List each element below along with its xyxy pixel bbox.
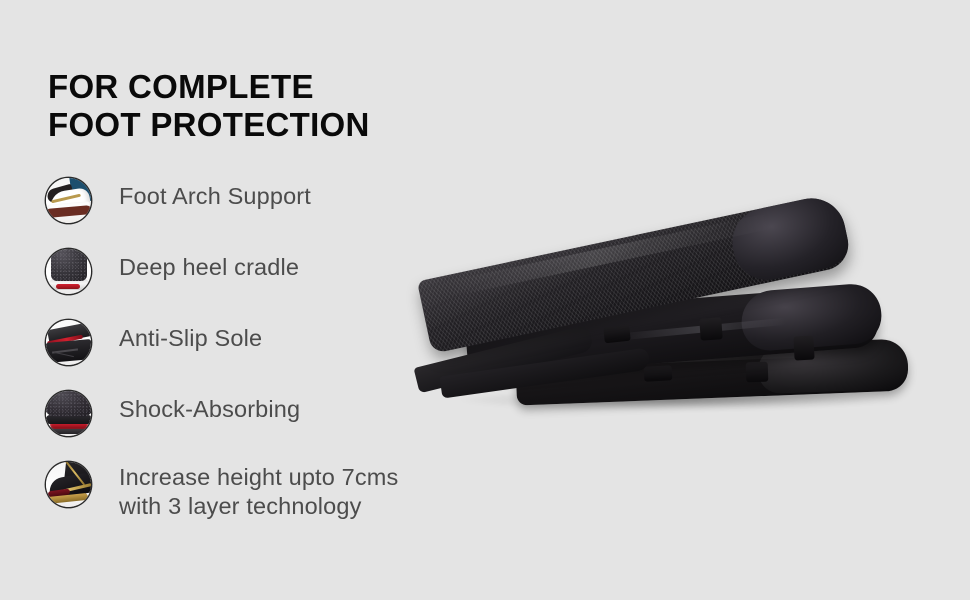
feature-label: Anti-Slip Sole xyxy=(119,318,262,353)
connector-stud xyxy=(746,362,769,383)
black-gold-boot-icon xyxy=(46,462,91,507)
feature-label: Deep heel cradle xyxy=(119,247,299,282)
feature-label: Increase height upto 7cms with 3 layer t… xyxy=(119,460,398,521)
shock-absorbing-air-icon xyxy=(46,391,91,436)
heel-cradle-foam-icon xyxy=(46,249,91,294)
connector-stud xyxy=(603,325,631,344)
sneaker-arch-support-icon xyxy=(46,178,91,223)
headline-line-2: FOOT PROTECTION xyxy=(48,106,370,144)
connector-stud xyxy=(699,317,722,340)
anti-slip-sole-icon xyxy=(46,320,91,365)
feature-label: Shock-Absorbing xyxy=(119,389,300,424)
feature-item-increase-height: Increase height upto 7cms with 3 layer t… xyxy=(46,460,476,521)
headline-line-1: FOR COMPLETE xyxy=(48,68,370,106)
connector-stud xyxy=(793,335,814,360)
feature-label: Foot Arch Support xyxy=(119,176,311,211)
connector-stud xyxy=(644,365,673,381)
product-image-three-layer-insole xyxy=(408,150,928,435)
infographic-canvas: FOR COMPLETE FOOT PROTECTION Foot Arch S… xyxy=(0,0,970,600)
page-title: FOR COMPLETE FOOT PROTECTION xyxy=(48,68,370,144)
